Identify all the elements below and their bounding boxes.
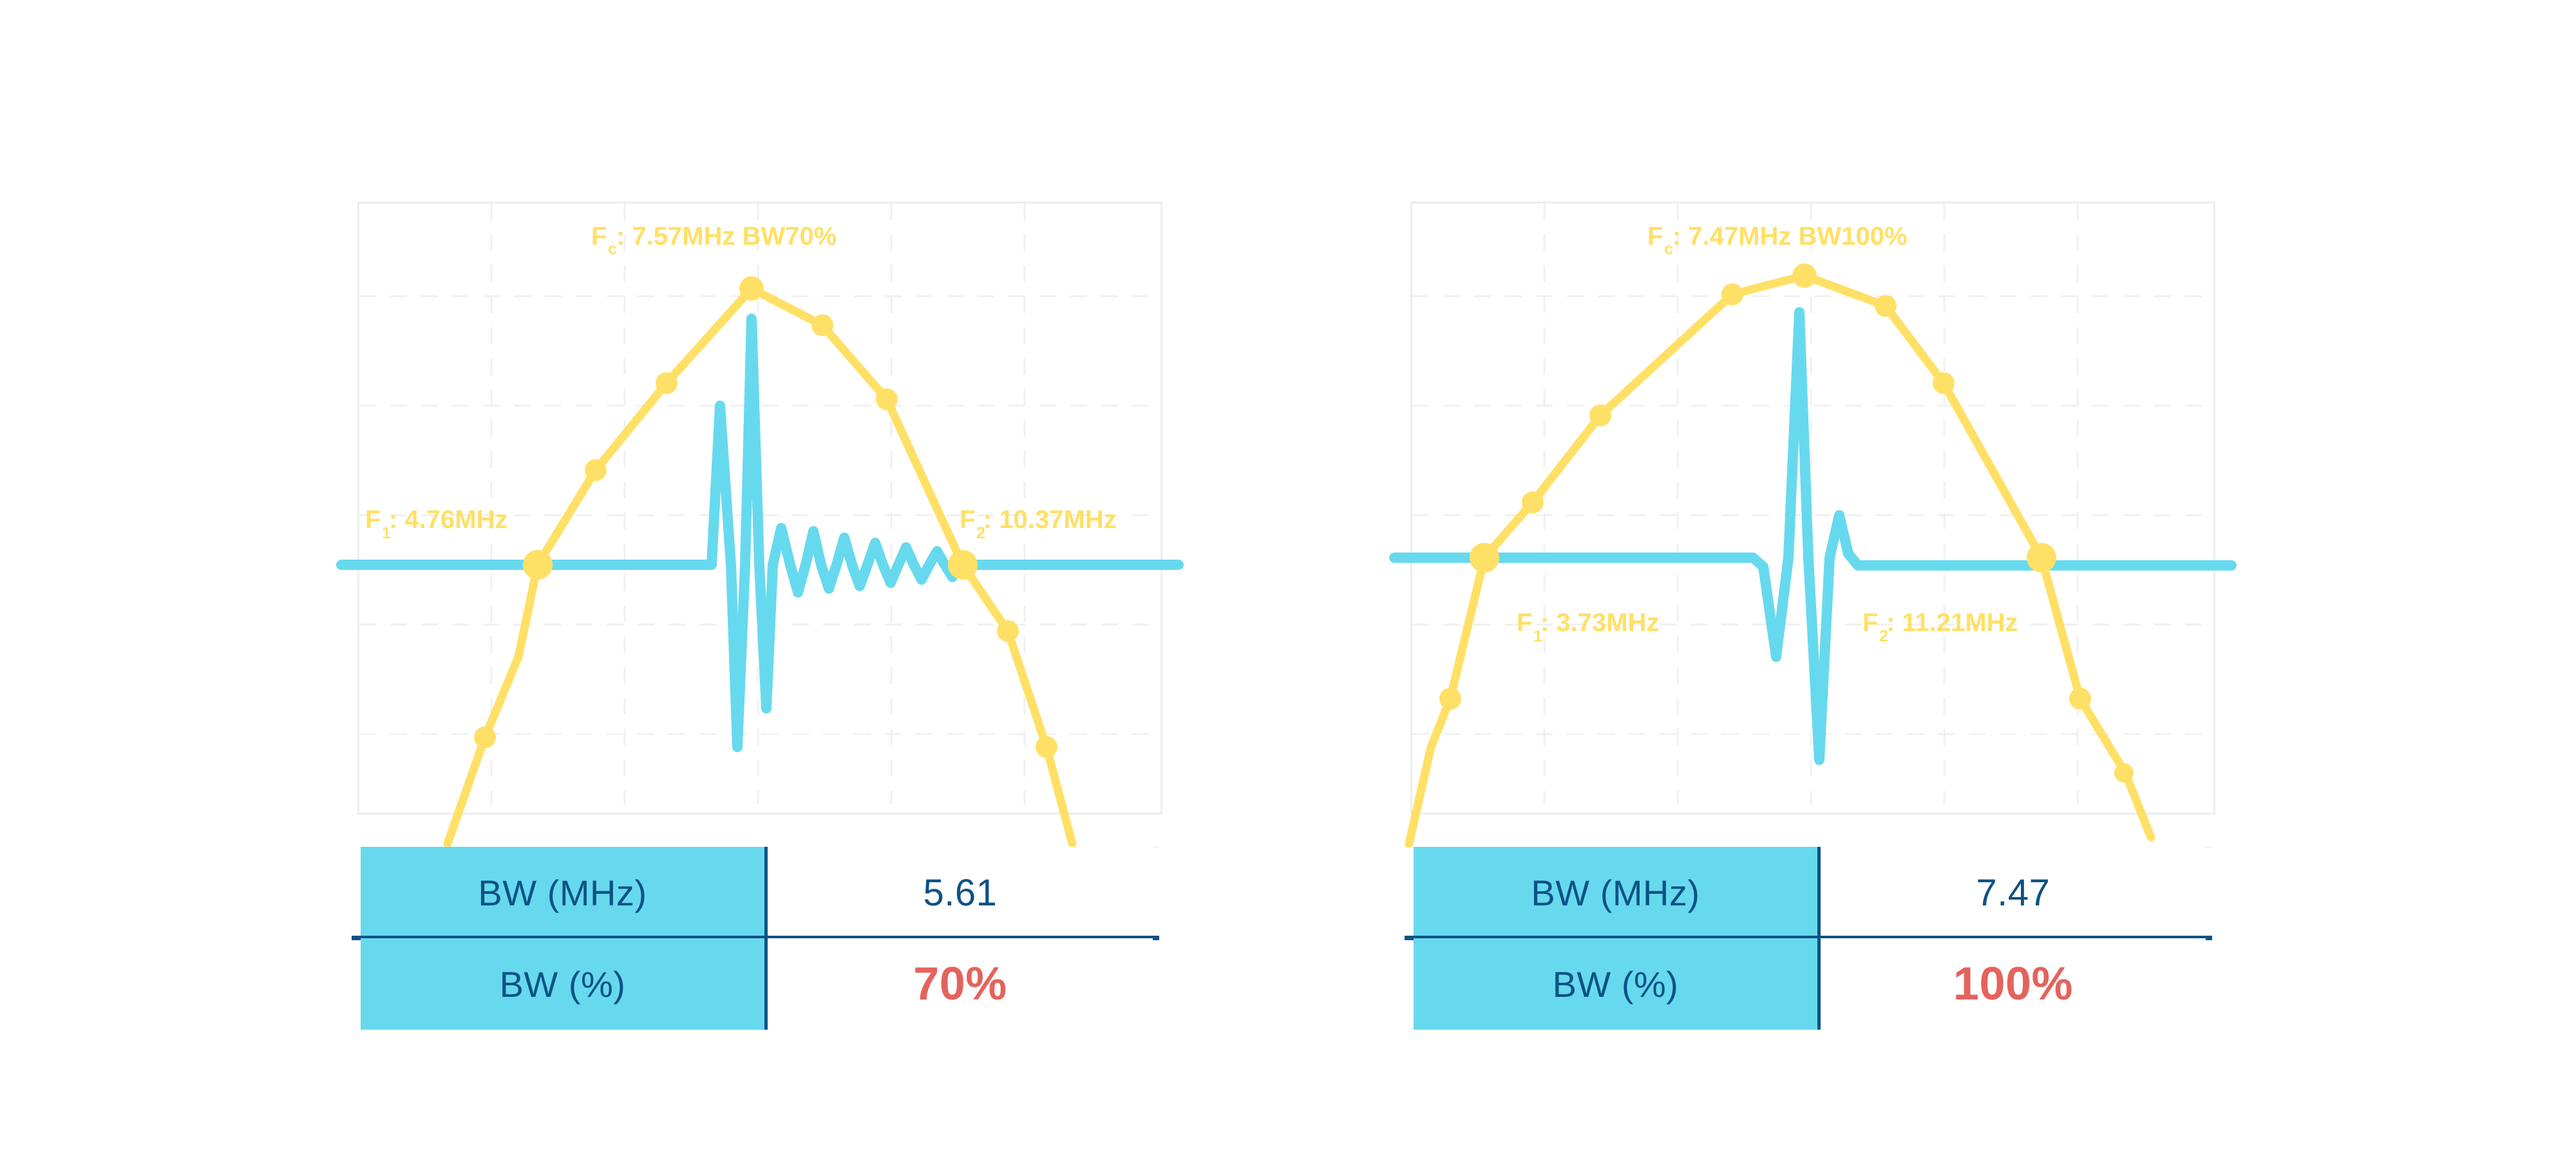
- annotation-center-right: F c : 7.47MHz BW100%: [1647, 222, 1908, 258]
- annotation-f1-left: F 1 : 4.76MHz: [365, 506, 508, 542]
- annotation-f2-right: F 2 : 11.21MHz: [1862, 609, 2018, 645]
- annotation-center-prefix-right: F: [1647, 222, 1663, 251]
- table-row-bw-mhz-right: BW (MHz) 7.47: [1414, 847, 2206, 938]
- plot-narrowband: F c : 7.57MHz BW70% F 1 : 4.76MHz F 2 : …: [351, 193, 1169, 815]
- table-label-bw-percent-left: BW (%): [500, 963, 626, 1005]
- table-label-bw-mhz-right: BW (MHz): [1531, 872, 1700, 914]
- annotation-center-left: F c : 7.57MHz BW70%: [591, 222, 837, 258]
- plot-canvas-right: F c : 7.47MHz BW100% F 1 : 3.73MHz F 2 :…: [1404, 193, 2222, 815]
- annotation-f1-text-right: : 3.73MHz: [1540, 609, 1660, 637]
- table-label-cell-bw-percent-right: BW (%): [1414, 938, 1821, 1030]
- table-value-cell-bw-mhz-left: 5.61: [768, 847, 1153, 938]
- annotation-f2-text-left: : 10.37MHz: [983, 506, 1117, 534]
- table-value-bw-mhz-right: 7.47: [1976, 871, 2050, 914]
- annotation-center-text-right: : 7.47MHz BW100%: [1672, 222, 1908, 251]
- table-label-cell-bw-mhz-left: BW (MHz): [361, 847, 768, 938]
- annotation-center-prefix-left: F: [591, 222, 607, 251]
- annotation-f1-prefix-left: F: [365, 506, 381, 534]
- pulse-trace-right: [1394, 312, 2231, 760]
- annotation-f1-text-left: : 4.76MHz: [389, 506, 508, 534]
- annotation-f2-prefix-left: F: [960, 506, 975, 534]
- table-value-cell-bw-percent-right: 100%: [1821, 938, 2206, 1030]
- panel-narrowband: F c : 7.57MHz BW70% F 1 : 4.76MHz F 2 : …: [351, 193, 1169, 1030]
- table-label-bw-percent-right: BW (%): [1553, 963, 1679, 1005]
- table-value-bw-mhz-left: 5.61: [923, 871, 998, 914]
- table-row-bw-percent-left: BW (%) 70%: [361, 938, 1153, 1030]
- table-label-bw-mhz-left: BW (MHz): [478, 872, 647, 914]
- panel-broadband: F c : 7.47MHz BW100% F 1 : 3.73MHz F 2 :…: [1404, 193, 2222, 1030]
- screenshot-root: F c : 7.57MHz BW70% F 1 : 4.76MHz F 2 : …: [0, 0, 2576, 1154]
- annotation-center-text-left: : 7.57MHz BW70%: [616, 222, 837, 251]
- annotation-f2-text-right: : 11.21MHz: [1886, 609, 2018, 637]
- annotation-f1-right: F 1 : 3.73MHz: [1517, 609, 1660, 645]
- plot-canvas-left: F c : 7.57MHz BW70% F 1 : 4.76MHz F 2 : …: [351, 193, 1169, 815]
- plot-broadband: F c : 7.47MHz BW100% F 1 : 3.73MHz F 2 :…: [1404, 193, 2222, 815]
- table-label-cell-bw-mhz-right: BW (MHz): [1414, 847, 1821, 938]
- bw-table-left: BW (MHz) 5.61 BW (%) 70%: [361, 847, 1153, 1030]
- table-row-bw-mhz-left: BW (MHz) 5.61: [361, 847, 1153, 938]
- table-row-bw-percent-right: BW (%) 100%: [1414, 938, 2206, 1030]
- annotation-f1-prefix-right: F: [1517, 609, 1532, 637]
- bw-table-right: BW (MHz) 7.47 BW (%) 100%: [1414, 847, 2206, 1030]
- table-value-bw-percent-right: 100%: [1953, 958, 2073, 1010]
- annotation-f2-left: F 2 : 10.37MHz: [960, 506, 1117, 542]
- table-label-cell-bw-percent-left: BW (%): [361, 938, 768, 1030]
- table-value-bw-percent-left: 70%: [913, 958, 1007, 1010]
- table-value-cell-bw-mhz-right: 7.47: [1821, 847, 2206, 938]
- annotation-center-subscript-left: c: [608, 240, 617, 258]
- annotation-center-subscript-right: c: [1664, 240, 1673, 258]
- table-value-cell-bw-percent-left: 70%: [768, 938, 1153, 1030]
- annotation-f2-prefix-right: F: [1862, 609, 1878, 637]
